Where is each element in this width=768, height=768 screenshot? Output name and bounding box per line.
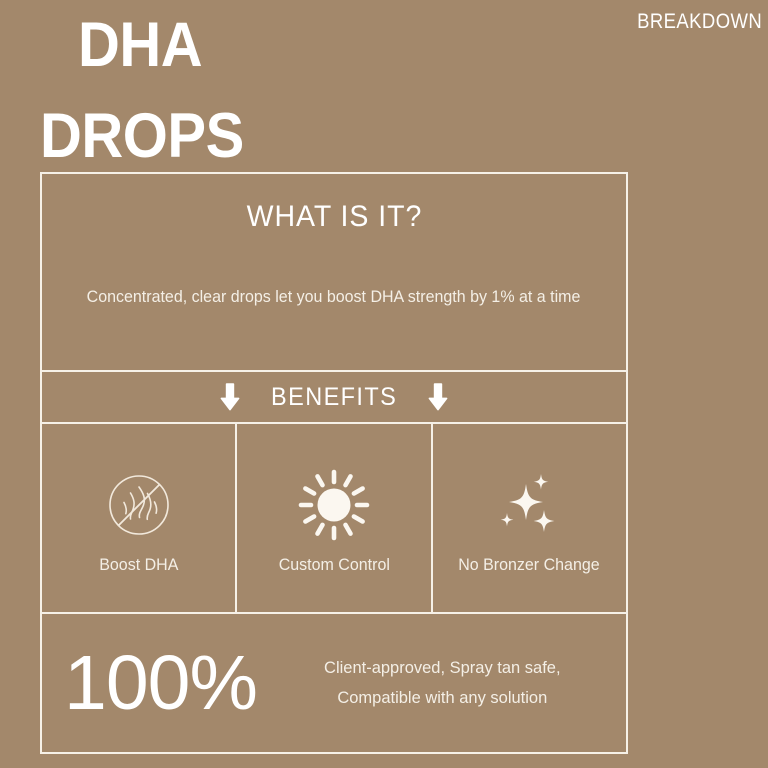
no-flame-icon xyxy=(100,462,178,548)
info-card: WHAT IS IT? Concentrated, clear drops le… xyxy=(40,172,628,754)
page-title: DHA DROPS xyxy=(40,6,600,168)
what-is-it-section: WHAT IS IT? Concentrated, clear drops le… xyxy=(42,174,626,372)
benefit-label: Custom Control xyxy=(278,556,389,575)
benefits-header-bar: BENEFITS xyxy=(42,372,626,424)
what-is-it-body: Concentrated, clear drops let you boost … xyxy=(87,285,581,311)
stat-description-line-1: Client-approved, Spray tan safe, xyxy=(278,653,607,683)
title-line-1: DHA xyxy=(78,14,558,77)
benefits-row: Boost DHA xyxy=(42,424,626,614)
sun-icon xyxy=(295,462,373,548)
stat-value: 100% xyxy=(64,645,257,722)
benefits-label: BENEFITS xyxy=(271,383,397,412)
benefit-label: Boost DHA xyxy=(99,556,178,575)
arrow-down-icon xyxy=(219,383,241,411)
kicker-label: BREAKDOWN xyxy=(637,10,762,34)
benefit-item-boost-dha: Boost DHA xyxy=(42,424,235,612)
benefit-item-no-bronzer-change: No Bronzer Change xyxy=(431,424,626,612)
arrow-down-icon xyxy=(427,383,449,411)
poster-canvas: BREAKDOWN DHA DROPS WHAT IS IT? Concentr… xyxy=(0,0,768,768)
benefit-label: No Bronzer Change xyxy=(459,556,600,575)
what-is-it-heading: WHAT IS IT? xyxy=(246,200,422,234)
stat-section: 100% Client-approved, Spray tan safe, Co… xyxy=(42,614,626,752)
title-line-2: DROPS xyxy=(40,105,555,168)
benefit-item-custom-control: Custom Control xyxy=(235,424,430,612)
sparkles-icon xyxy=(486,462,572,548)
stat-description: Client-approved, Spray tan safe, Compati… xyxy=(262,653,606,713)
stat-description-line-2: Compatible with any solution xyxy=(278,683,607,713)
